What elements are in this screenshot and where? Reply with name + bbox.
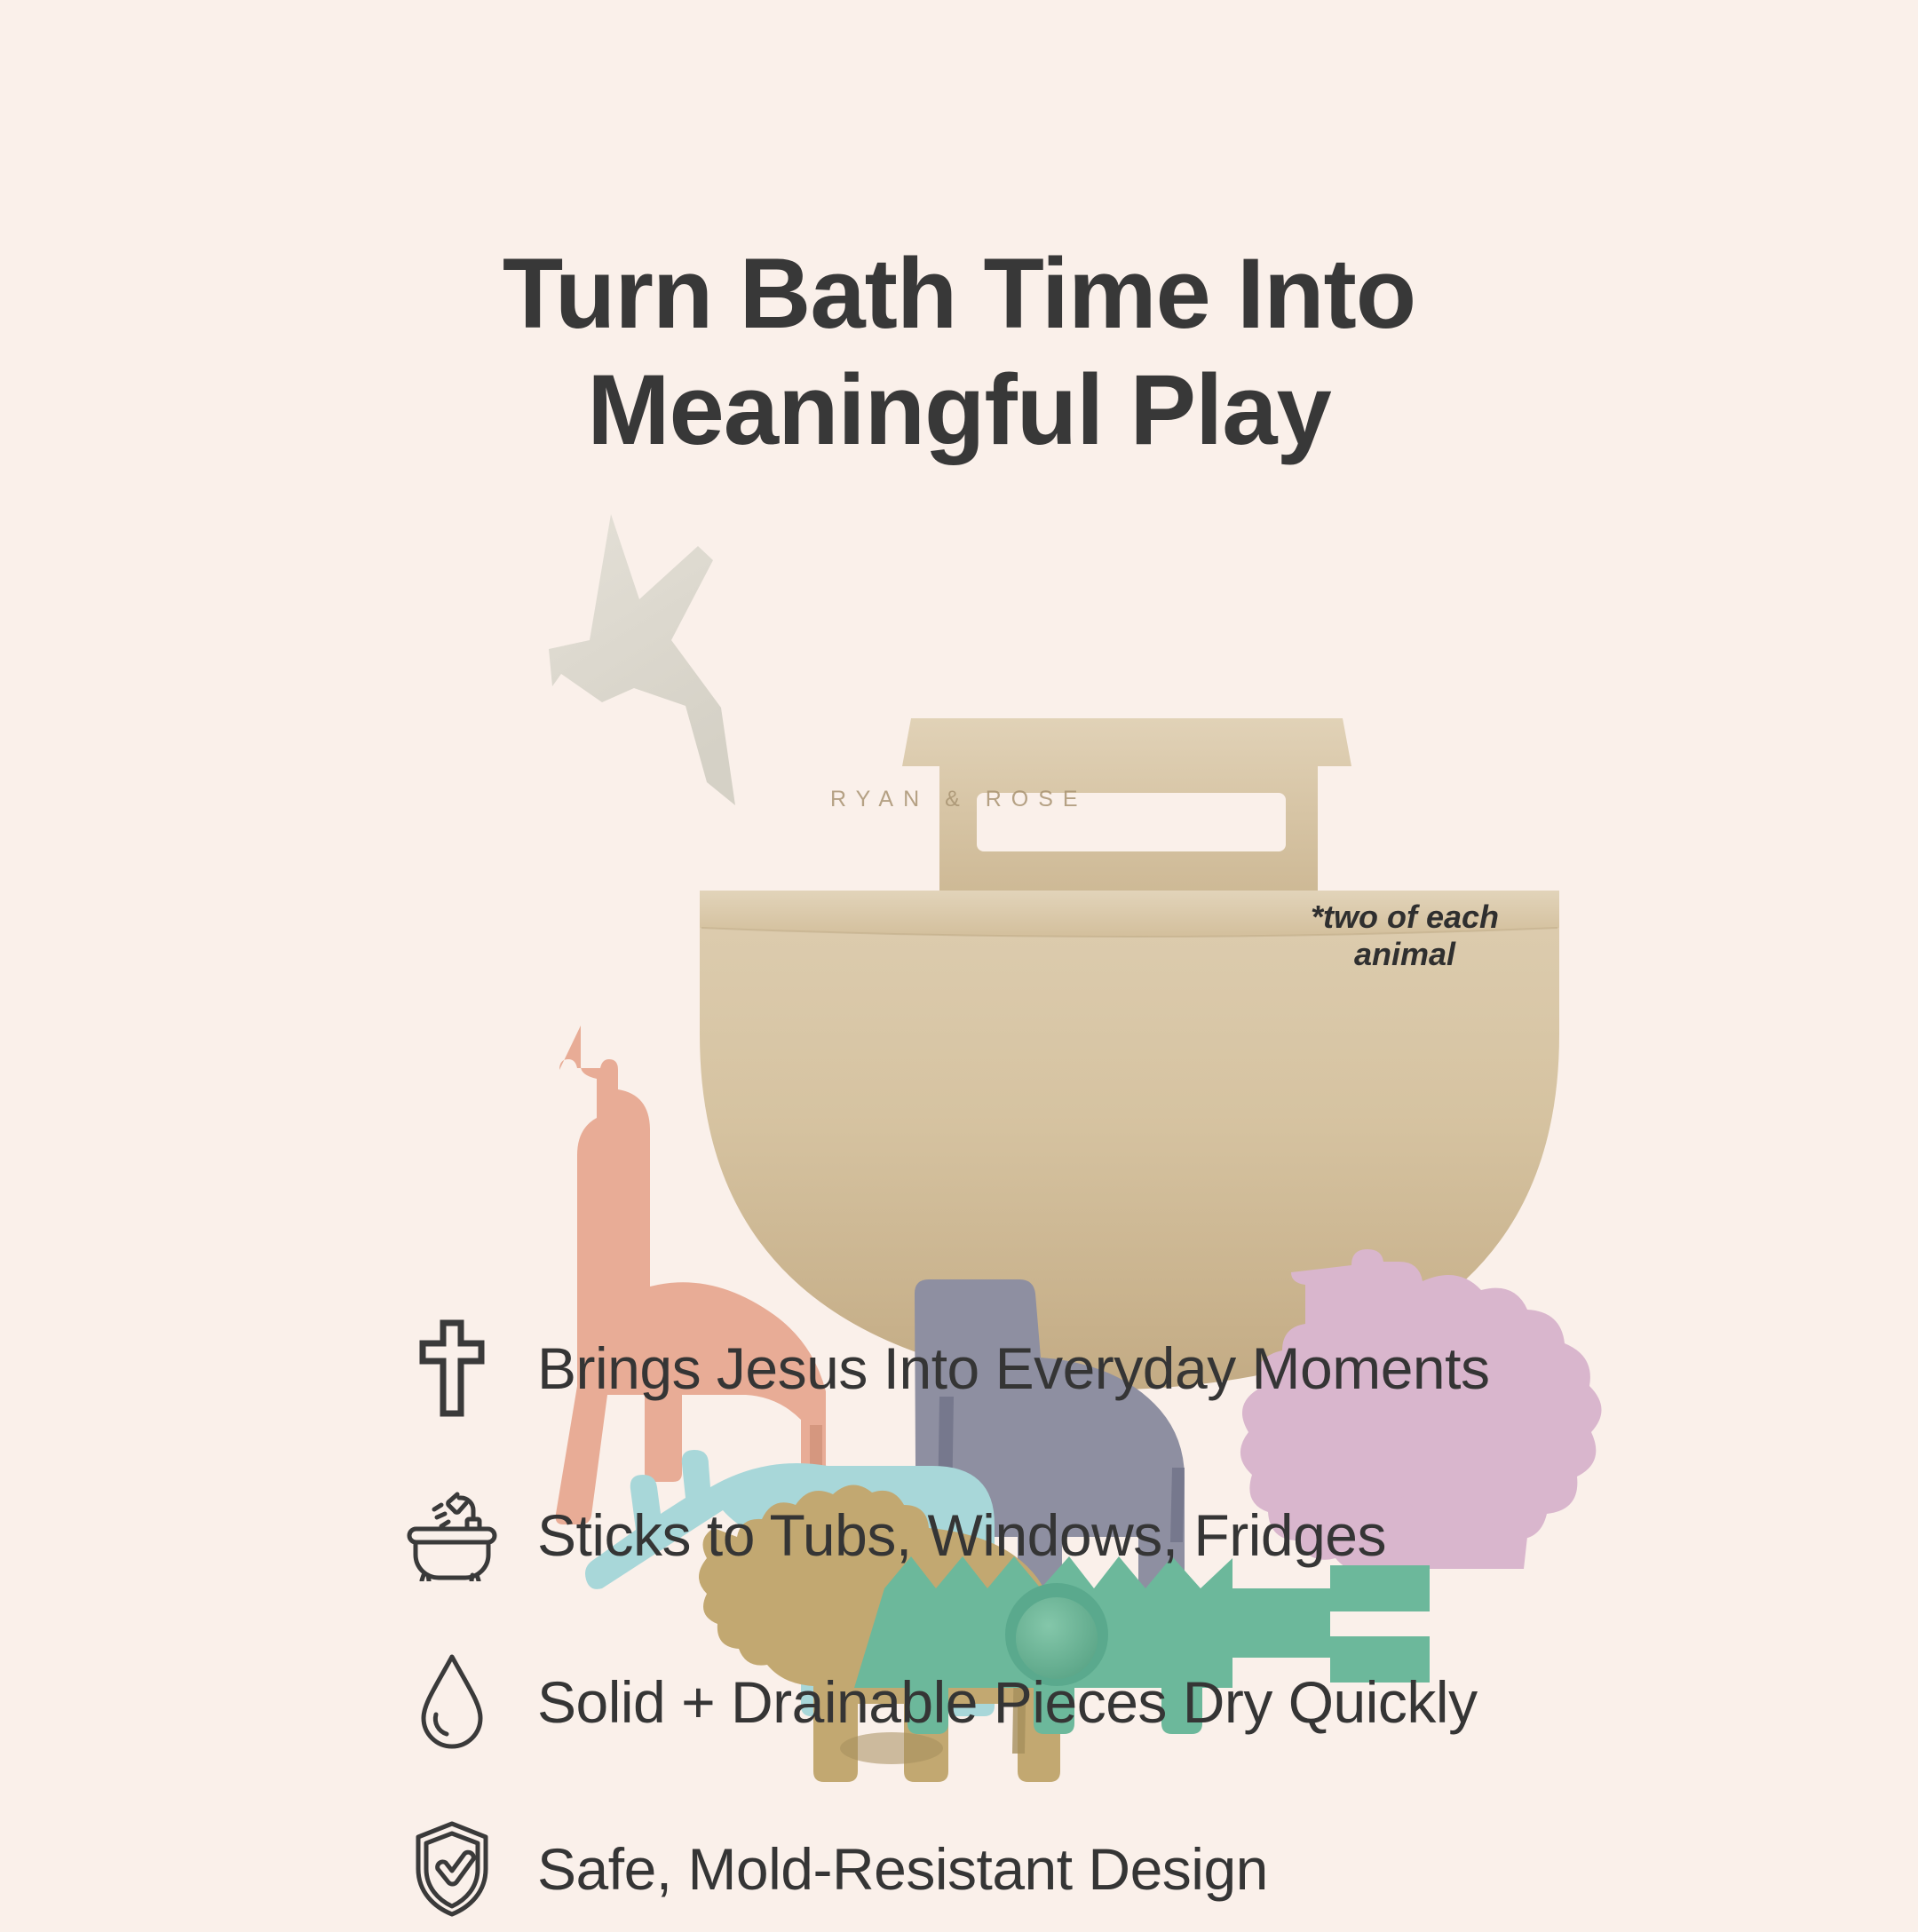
two-of-each-animal-note: *two of each animal (1298, 899, 1511, 974)
bathtub-icon (404, 1483, 500, 1588)
piece-dove (549, 514, 735, 805)
feature-label: Sticks to Tubs, Windows, Fridges (537, 1501, 1386, 1569)
promo-card: Turn Bath Time Into Meaningful Play (0, 0, 1918, 1918)
brand-engraving: RYAN & ROSE (830, 787, 1088, 812)
feature-row: Sticks to Tubs, Windows, Fridges (404, 1472, 1665, 1598)
feature-list: Brings Jesus Into Everyday Moments (404, 1305, 1665, 1932)
cross-icon (404, 1316, 500, 1421)
page-title: Turn Bath Time Into Meaningful Play (0, 235, 1918, 468)
product-illustration (497, 484, 1563, 1283)
shield-check-icon (404, 1817, 500, 1921)
droplet-icon (404, 1650, 500, 1754)
feature-label: Solid + Drainable Pieces Dry Quickly (537, 1668, 1478, 1736)
feature-label: Safe, Mold-Resistant Design (537, 1835, 1268, 1903)
feature-label: Brings Jesus Into Everyday Moments (537, 1334, 1489, 1402)
feature-row: Solid + Drainable Pieces Dry Quickly (404, 1639, 1665, 1765)
headline-line-1: Turn Bath Time Into (0, 235, 1918, 352)
feature-row: Safe, Mold-Resistant Design (404, 1806, 1665, 1932)
feature-row: Brings Jesus Into Everyday Moments (404, 1305, 1665, 1431)
headline-line-2: Meaningful Play (0, 352, 1918, 468)
